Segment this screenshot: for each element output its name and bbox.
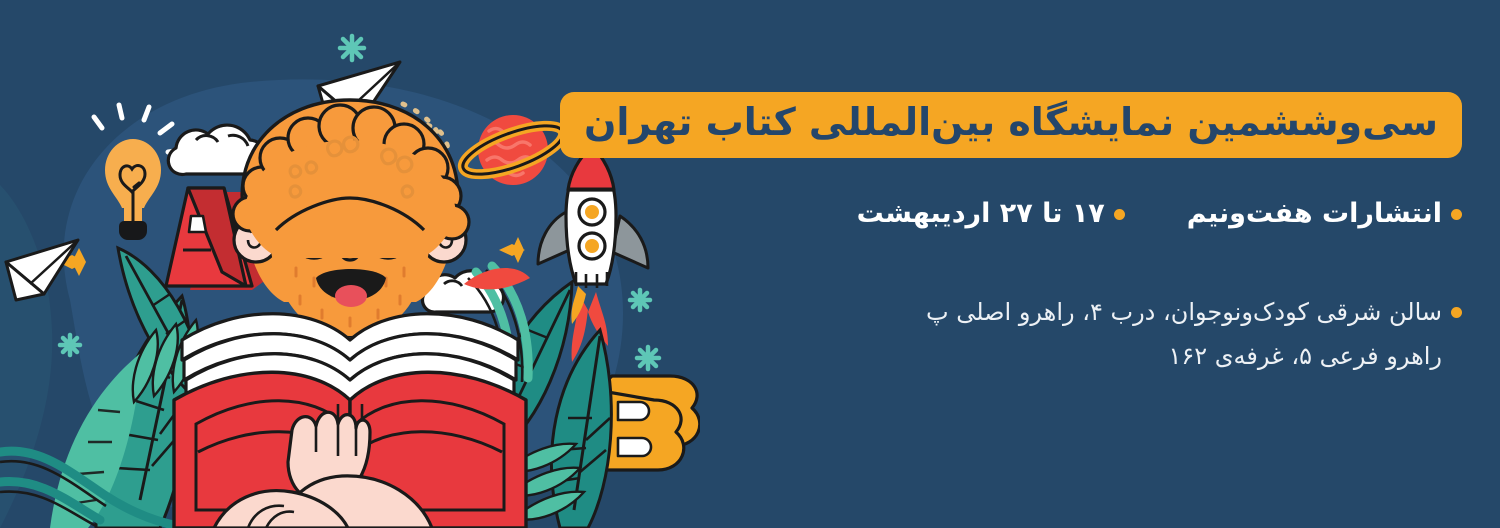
title-wrap: سی‌وششمین نمایشگاه بین‌المللی کتاب تهران [560, 92, 1462, 158]
illustration [0, 0, 700, 528]
publisher-label: انتشارات هفت‌ونیم [1187, 198, 1442, 230]
dot-bullet-icon [1114, 209, 1125, 220]
dates-label: ۱۷ تا ۲۷ اردیبهشت [857, 198, 1105, 230]
text-column: سی‌وششمین نمایشگاه بین‌المللی کتاب تهران… [622, 0, 1462, 528]
address-block: سالن شرقی کودک‌ونوجوان، درب ۴، راهرو اصل… [822, 290, 1462, 379]
promo-banner: سی‌وششمین نمایشگاه بین‌المللی کتاب تهران… [0, 0, 1500, 528]
dot-bullet-icon [1451, 307, 1462, 318]
address-line-1-row: سالن شرقی کودک‌ونوجوان، درب ۴، راهرو اصل… [822, 290, 1462, 334]
meta-item-publisher: انتشارات هفت‌ونیم [1187, 198, 1462, 230]
meta-item-dates: ۱۷ تا ۲۷ اردیبهشت [857, 198, 1125, 230]
meta-row: انتشارات هفت‌ونیم ۱۷ تا ۲۷ اردیبهشت [857, 198, 1462, 230]
dot-bullet-icon [1451, 209, 1462, 220]
page-title: سی‌وششمین نمایشگاه بین‌المللی کتاب تهران [560, 92, 1462, 158]
address-line-1: سالن شرقی کودک‌ونوجوان، درب ۴، راهرو اصل… [926, 290, 1442, 334]
address-line-2: راهرو فرعی ۵، غرفه‌ی ۱۶۲ [822, 334, 1462, 378]
